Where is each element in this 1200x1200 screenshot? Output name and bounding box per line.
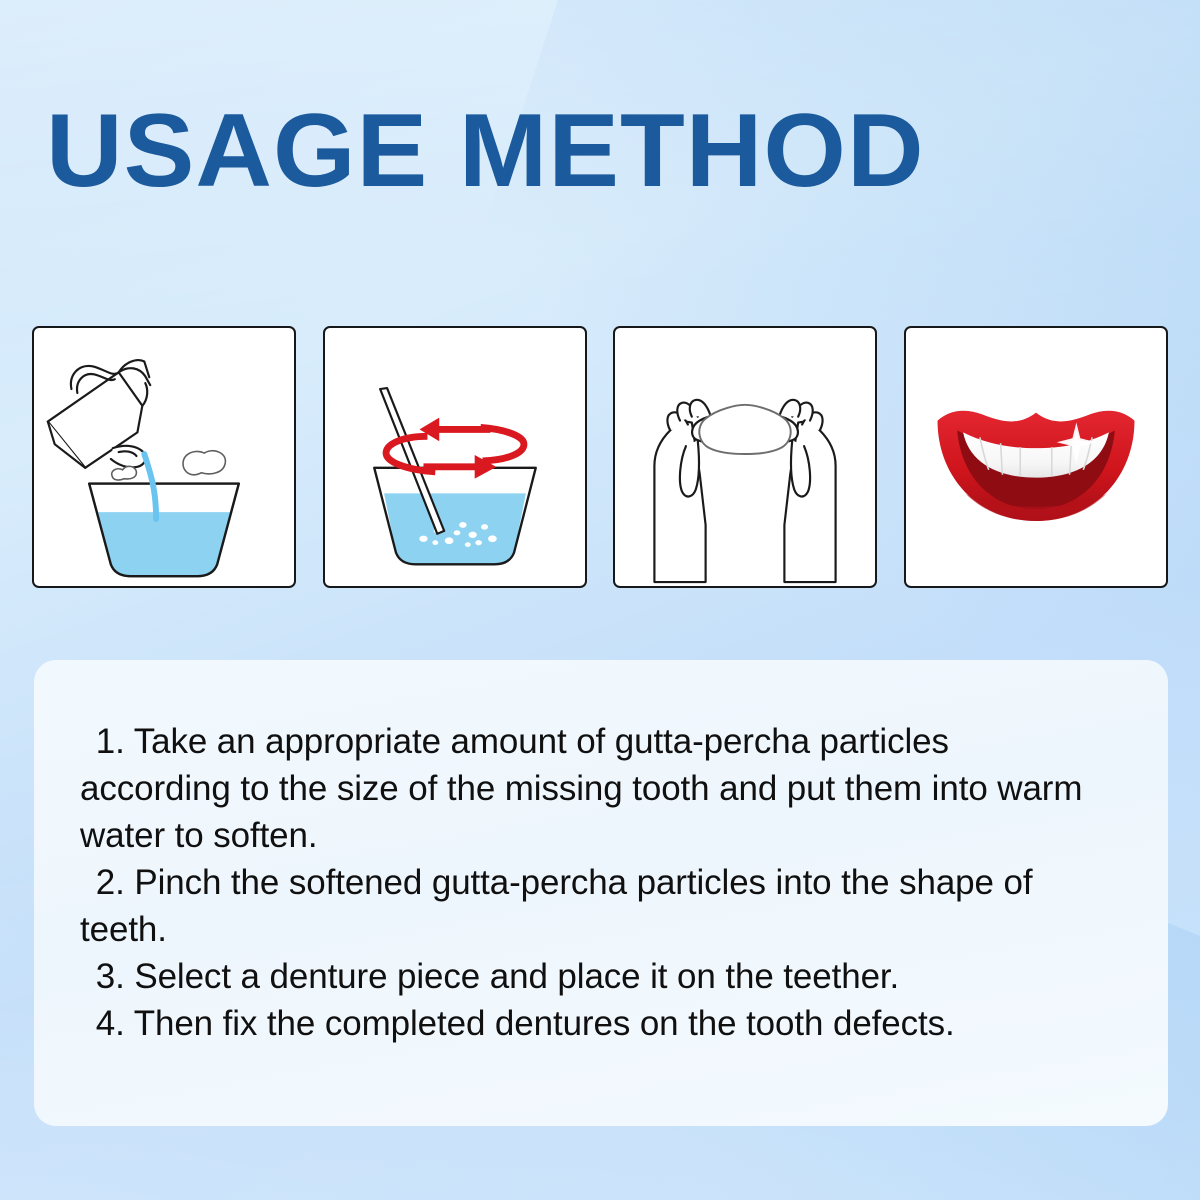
step-illustration-row — [32, 326, 1168, 588]
step-panel-2 — [323, 326, 587, 588]
page-title: USAGE METHOD — [46, 104, 1188, 198]
instruction-item-4: 4. Then fix the completed dentures on th… — [80, 1000, 1106, 1047]
instruction-item-1: 1. Take an appropriate amount of gutta-p… — [80, 718, 1106, 859]
infographic-page: USAGE METHOD — [0, 0, 1200, 1200]
instruction-item-3: 3. Select a denture piece and place it o… — [80, 953, 1106, 1000]
stirring-rod-in-bowl-icon — [325, 328, 585, 586]
instruction-item-2: 2. Pinch the softened gutta-percha parti… — [80, 859, 1106, 953]
instructions-list: 1. Take an appropriate amount of gutta-p… — [80, 718, 1122, 1047]
instructions-card: 1. Take an appropriate amount of gutta-p… — [34, 660, 1168, 1126]
smiling-mouth-with-teeth-icon — [906, 328, 1166, 586]
hands-shaping-denture-icon — [615, 328, 875, 586]
kettle-pouring-water-into-bowl-icon — [34, 328, 294, 586]
step-panel-3 — [613, 326, 877, 588]
step-panel-4 — [904, 326, 1168, 588]
step-panel-1 — [32, 326, 296, 588]
